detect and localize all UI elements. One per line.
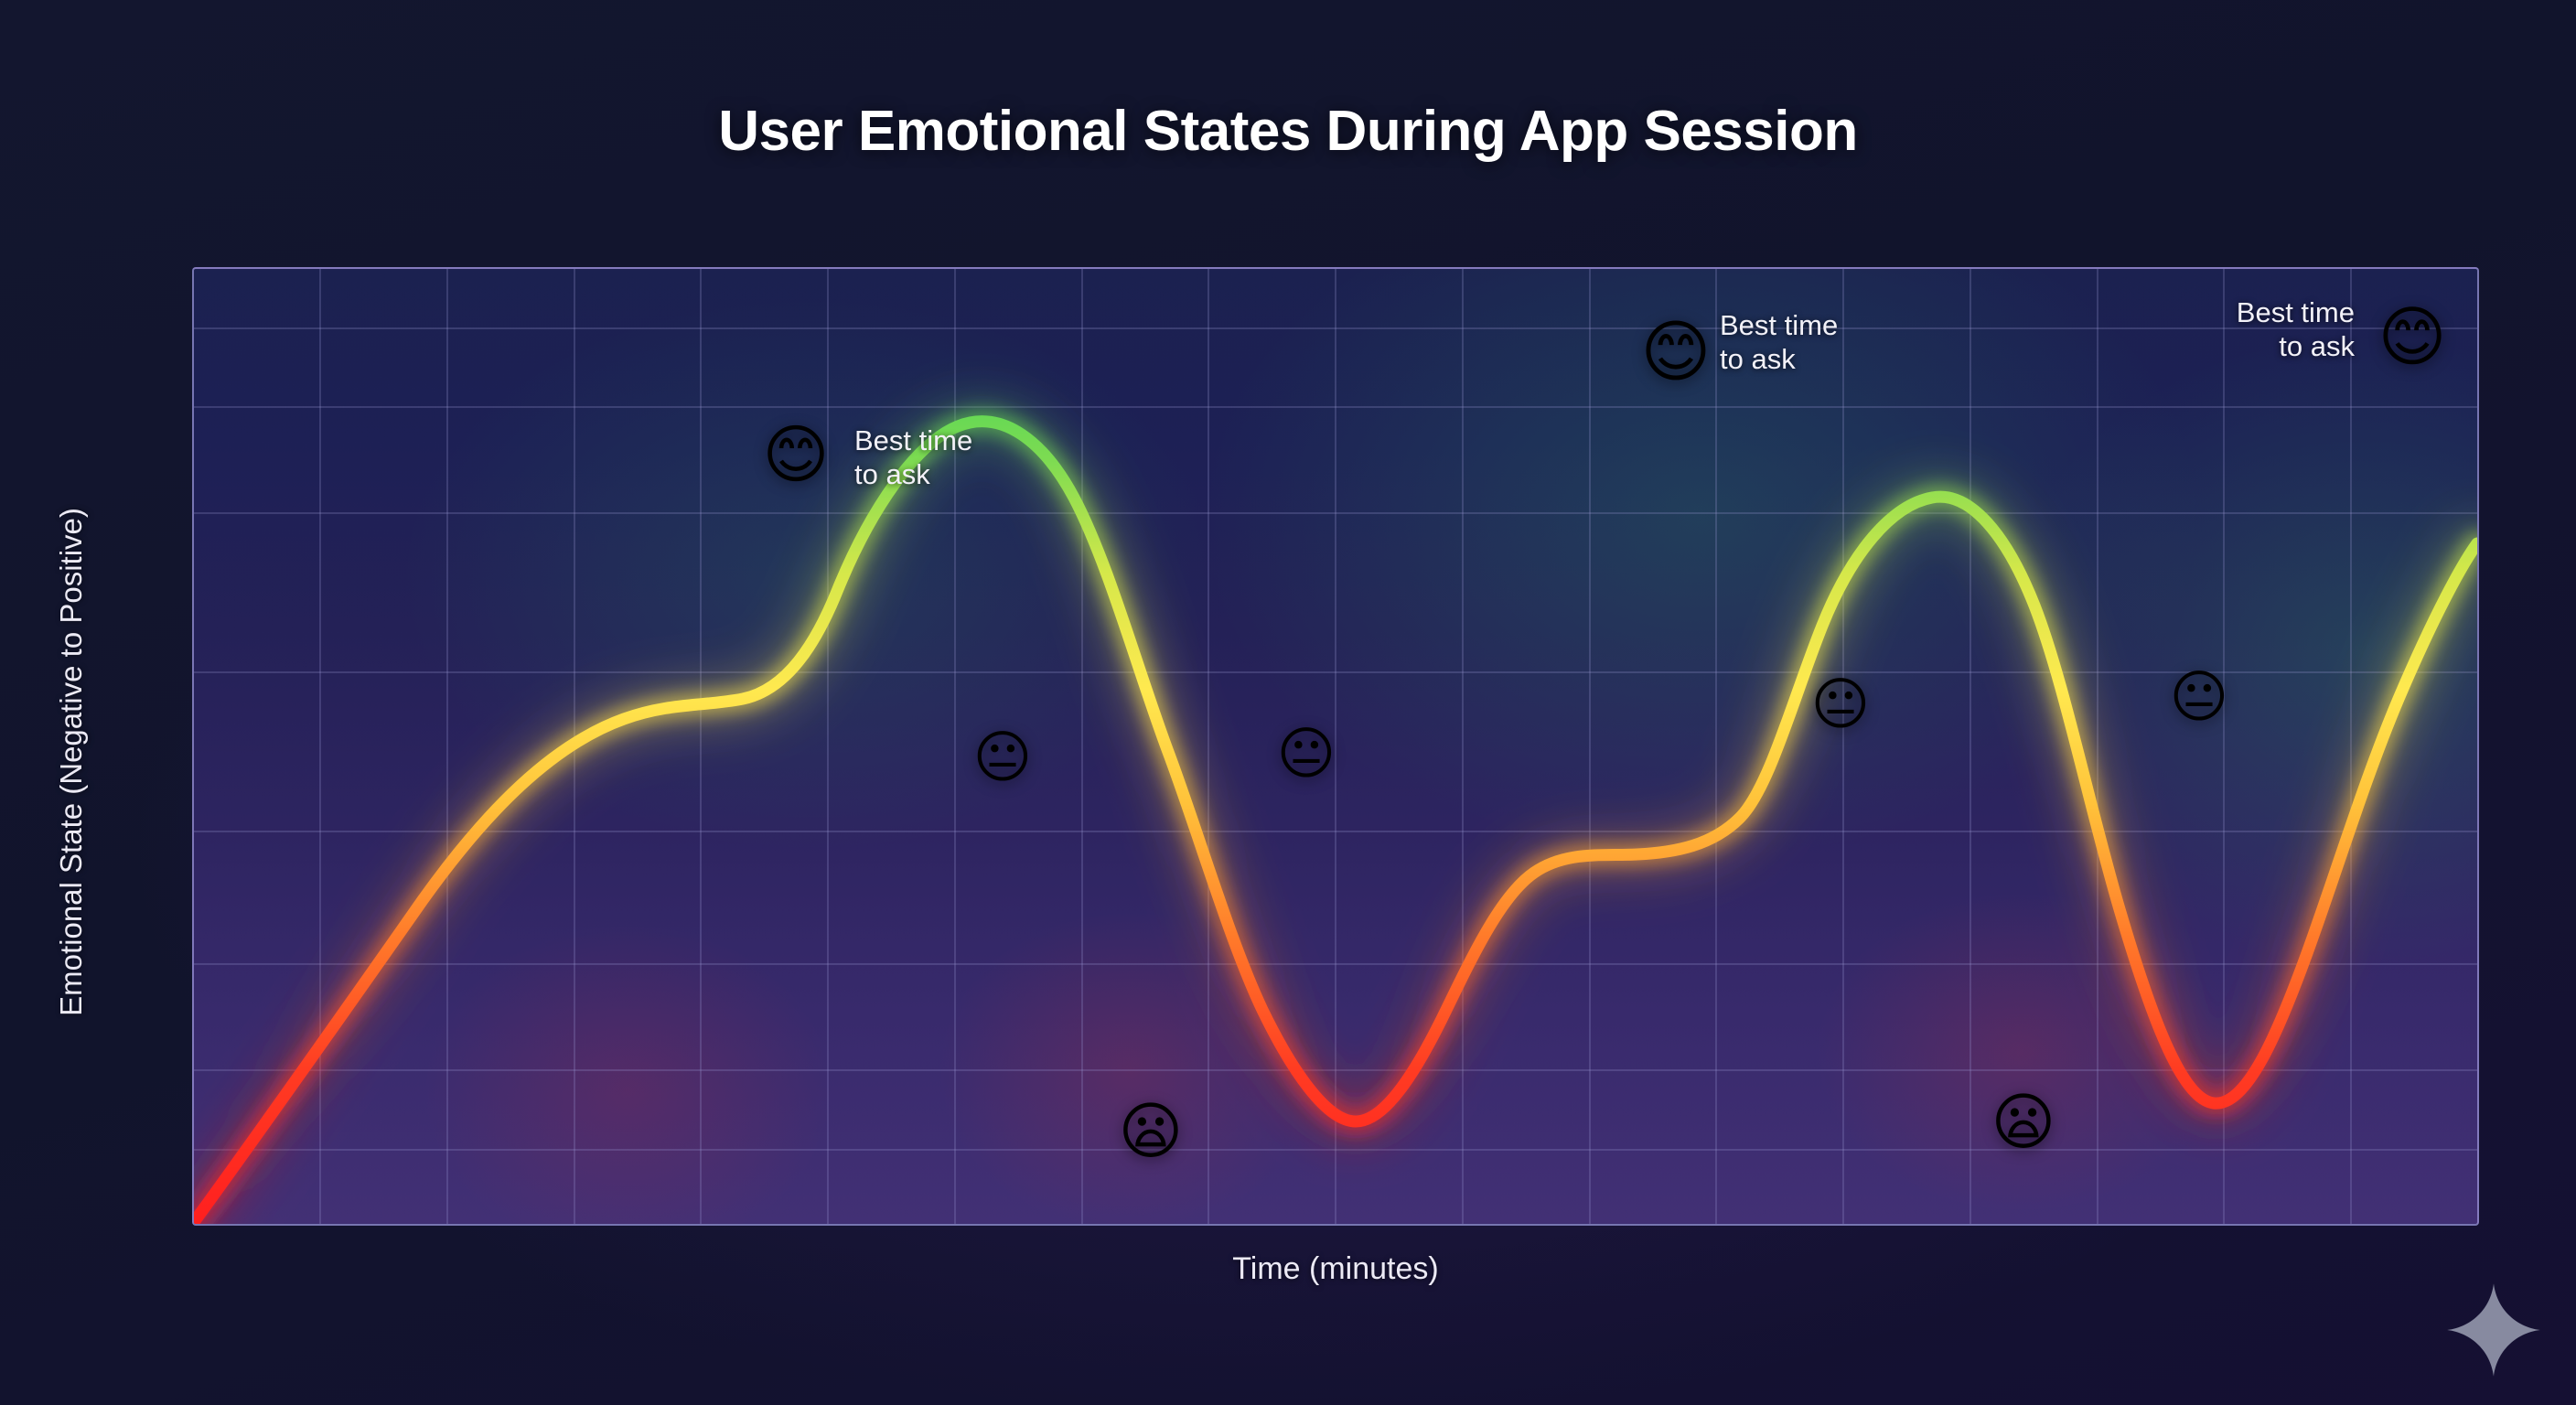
frowning-face-icon: 😦 <box>1991 1092 2056 1154</box>
emoji-marker-neutral-2[interactable]: 😐 <box>1277 725 1336 782</box>
emoji-marker-neutral-1[interactable]: 😐 <box>973 729 1033 786</box>
neutral-face-icon: 😐 <box>1277 725 1336 782</box>
neutral-face-icon: 😐 <box>2170 669 2229 725</box>
neutral-face-icon: 😐 <box>1811 676 1871 733</box>
annotation-best-time-3: Best time to ask <box>2095 296 2355 363</box>
emoji-marker-sad-2[interactable]: 😦 <box>1991 1092 2056 1154</box>
smiling-face-icon: 😊 <box>1640 318 1711 386</box>
emoji-marker-sad-1[interactable]: 😦 <box>1119 1101 1184 1164</box>
y-axis-label: Emotional State (Negative to Positive) <box>54 433 89 1091</box>
emoji-marker-neutral-4[interactable]: 😐 <box>2170 669 2229 725</box>
chart-canvas: User Emotional States During App Session… <box>0 0 2576 1405</box>
x-axis-label: Time (minutes) <box>192 1251 2479 1287</box>
frowning-face-icon: 😦 <box>1119 1101 1184 1164</box>
emoji-marker-happy-3[interactable]: 😊 <box>2377 304 2446 370</box>
emoji-marker-happy-1[interactable]: 😊 <box>763 423 830 487</box>
page-title: User Emotional States During App Session <box>0 99 2576 164</box>
annotation-best-time-1: Best time to ask <box>854 424 972 491</box>
neutral-face-icon: 😐 <box>973 729 1033 786</box>
sparkle-icon <box>2444 1281 2543 1379</box>
smiling-face-icon: 😊 <box>763 423 830 487</box>
smiling-face-icon: 😊 <box>2377 304 2446 370</box>
annotation-best-time-2: Best time to ask <box>1720 309 1838 376</box>
emoji-marker-neutral-3[interactable]: 😐 <box>1811 676 1871 733</box>
emoji-marker-happy-2[interactable]: 😊 <box>1640 318 1711 386</box>
